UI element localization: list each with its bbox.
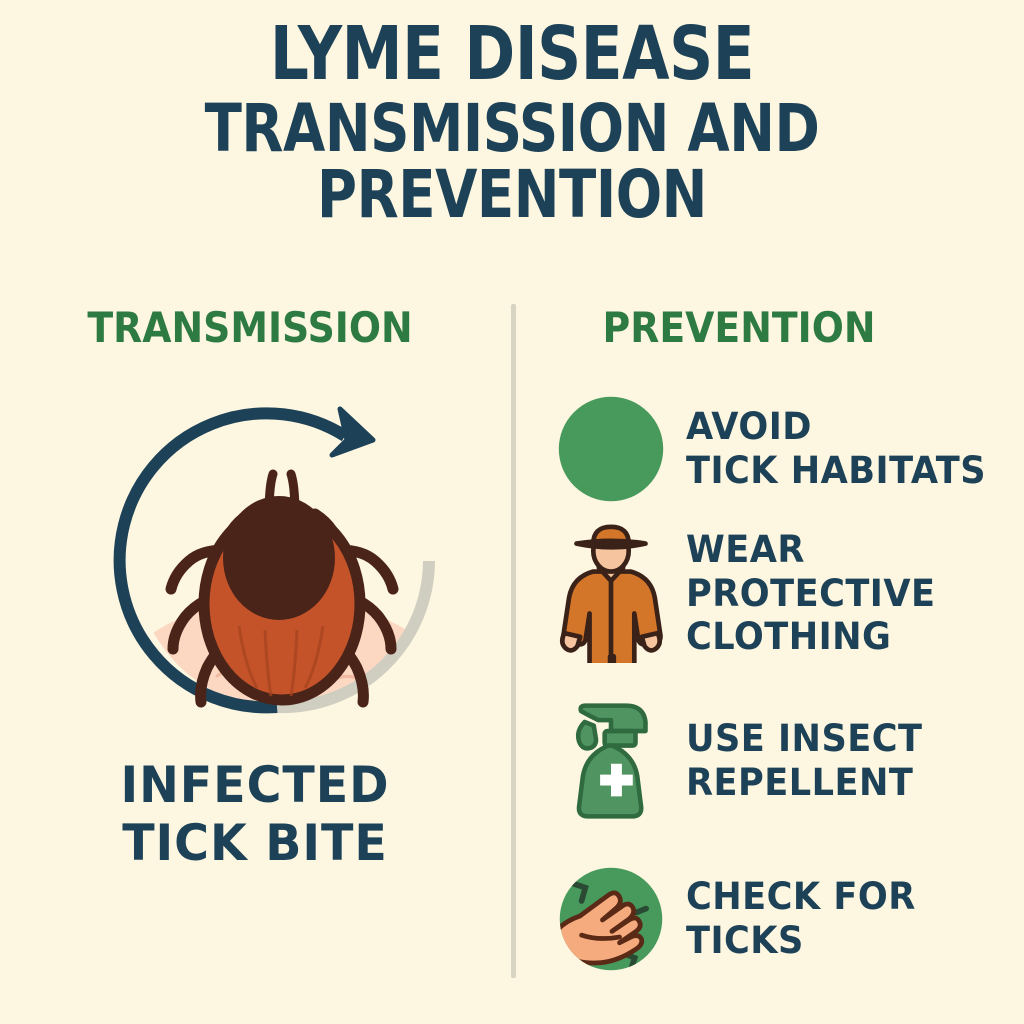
- page-title: LYME DISEASE TRANSMISSION AND PREVENTION: [0, 18, 1024, 228]
- list-item-label: WEAR PROTECTIVE CLOTHING: [686, 528, 936, 659]
- label-line-1: USE INSECT: [686, 717, 922, 761]
- caption-line-2: TICK BITE: [32, 814, 479, 872]
- caption-line-1: INFECTED: [32, 756, 479, 814]
- prevention-heading: PREVENTION: [546, 303, 933, 352]
- label-line-1: WEAR: [686, 528, 936, 572]
- label-line-2: REPELLENT: [686, 761, 922, 805]
- list-item[interactable]: USE INSECT REPELLENT: [552, 702, 935, 820]
- label-line-2: TICKS: [686, 919, 916, 963]
- list-item-label: USE INSECT REPELLENT: [686, 717, 922, 804]
- label-line-2: TICK HABITATS: [686, 449, 986, 493]
- title-line-1: LYME DISEASE: [41, 18, 983, 91]
- hand-check-ticks-icon: [552, 860, 670, 978]
- infographic-poster: LYME DISEASE TRANSMISSION AND PREVENTION…: [0, 0, 1024, 1024]
- person-protective-clothing-icon: [552, 534, 670, 652]
- label-line-1: AVOID: [686, 405, 986, 449]
- list-item-label: AVOID TICK HABITATS: [686, 405, 986, 492]
- list-item[interactable]: CHECK FOR TICKS: [552, 860, 928, 978]
- transmission-caption: INFECTED TICK BITE: [32, 756, 479, 872]
- list-item-label: CHECK FOR TICKS: [686, 875, 916, 962]
- green-circle-habitat-icon: [552, 390, 670, 508]
- label-line-1: CHECK FOR: [686, 875, 916, 919]
- label-line-3: CLOTHING: [686, 615, 936, 659]
- title-line-2: TRANSMISSION AND: [41, 97, 983, 162]
- label-line-2: PROTECTIVE: [686, 572, 936, 616]
- spray-bottle-repellent-icon: [552, 702, 670, 820]
- tick-on-skin-cycle-icon: [97, 376, 467, 746]
- column-divider: [511, 304, 516, 978]
- list-item[interactable]: AVOID TICK HABITATS: [552, 390, 1002, 508]
- list-item[interactable]: WEAR PROTECTIVE CLOTHING: [552, 528, 949, 659]
- transmission-heading: TRANSMISSION: [25, 303, 475, 352]
- title-line-3: PREVENTION: [41, 163, 983, 228]
